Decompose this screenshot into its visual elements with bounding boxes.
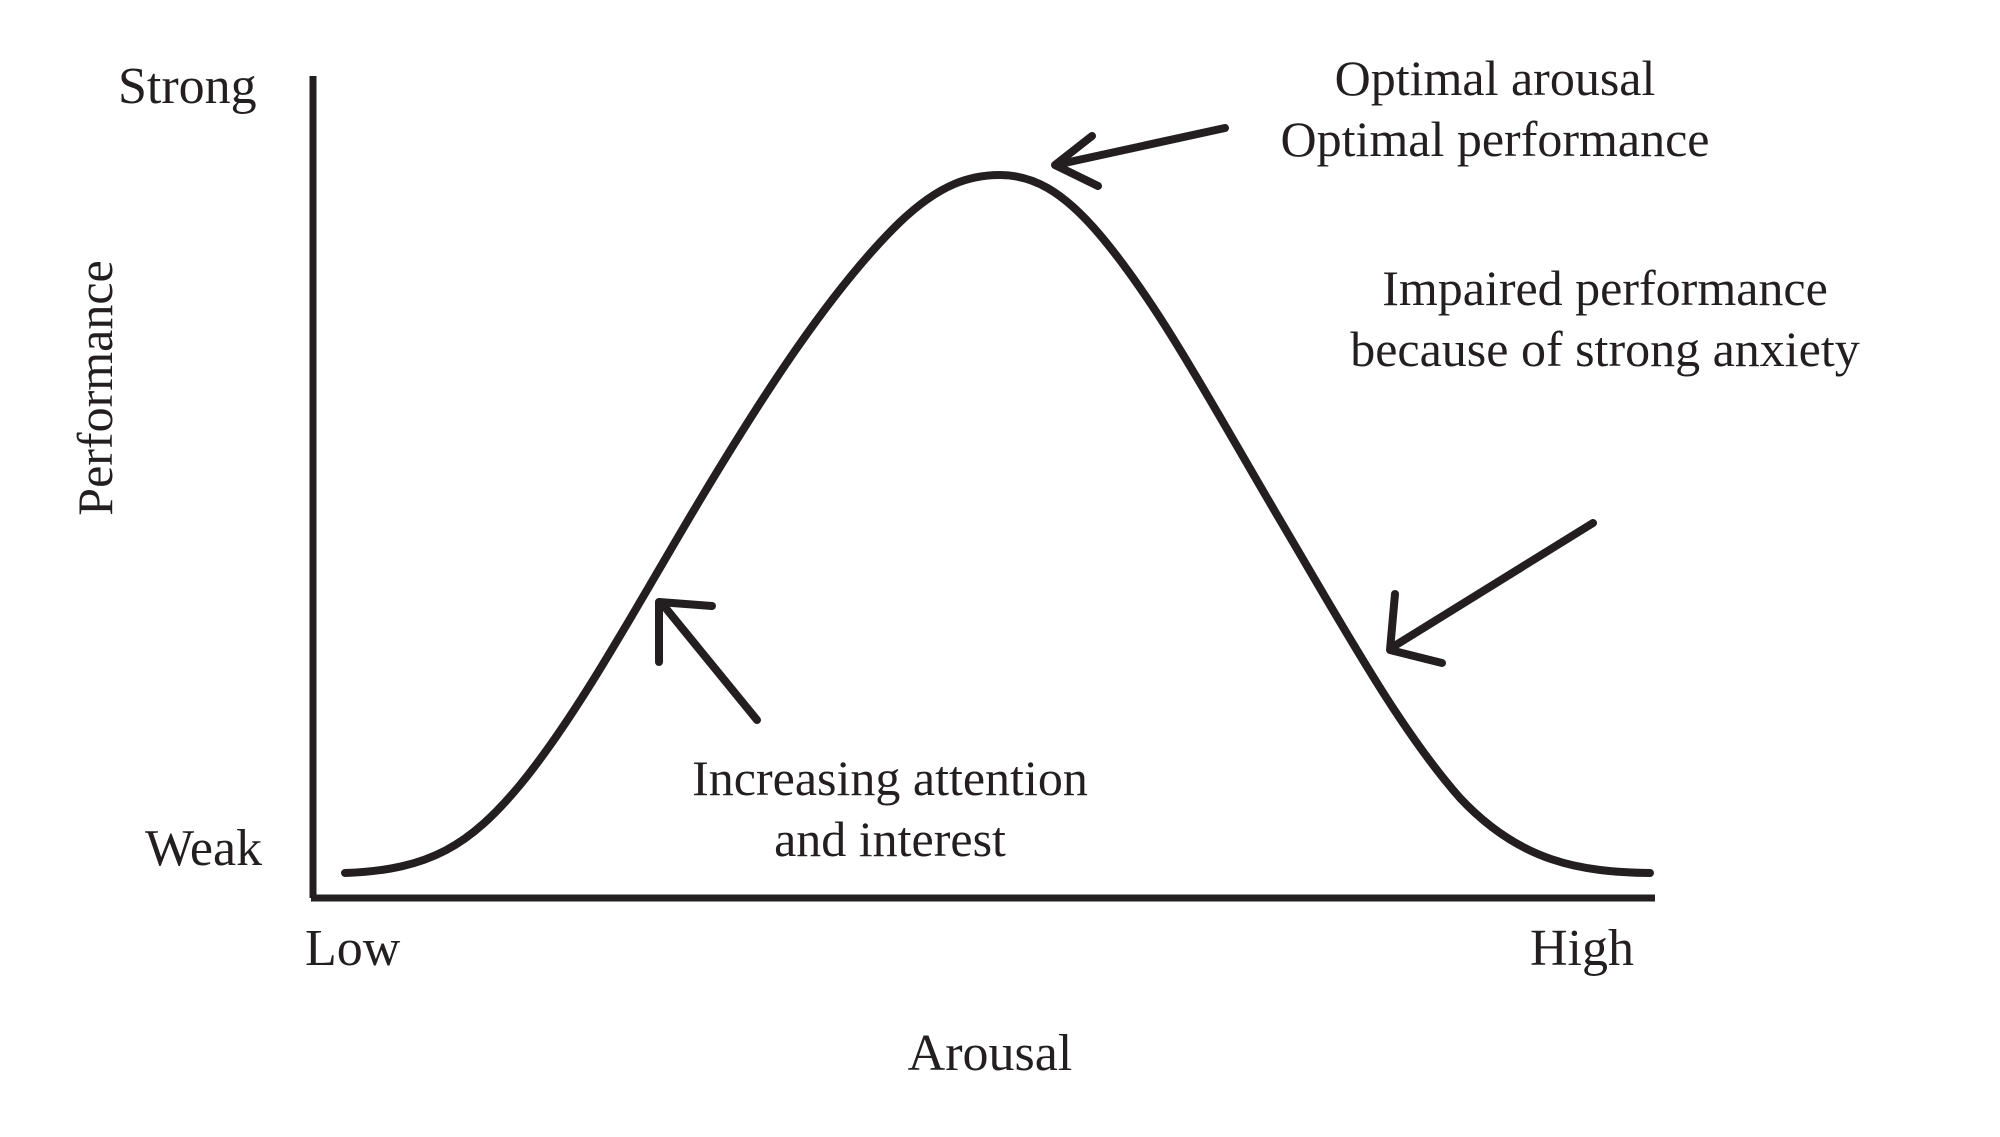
- x-axis-tick-high: High: [1530, 920, 1634, 978]
- y-axis-tick-weak: Weak: [145, 820, 262, 878]
- annotation-increasing-attention: Increasing attention and interest: [600, 748, 1180, 870]
- annotation-impaired-line-1: Impaired performance: [1255, 258, 1955, 319]
- annotation-optimal-line-1: Optimal arousal: [1175, 48, 1815, 109]
- x-axis-tick-low: Low: [305, 920, 400, 978]
- arousal-performance-figure: Strong Weak Performance Low High Arousal…: [0, 0, 2000, 1137]
- annotation-optimal-arousal: Optimal arousal Optimal performance: [1175, 48, 1815, 170]
- y-axis-tick-strong: Strong: [118, 58, 257, 116]
- plot-canvas: [0, 0, 2000, 1137]
- annotation-impaired-line-2: because of strong anxiety: [1255, 319, 1955, 380]
- annotation-impaired-performance: Impaired performance because of strong a…: [1255, 258, 1955, 380]
- annotation-optimal-line-2: Optimal performance: [1175, 109, 1815, 170]
- annotation-increasing-line-1: Increasing attention: [600, 748, 1180, 809]
- arrow-impaired: [1390, 523, 1593, 663]
- arrow-increasing: [659, 602, 757, 720]
- y-axis-title: Performance: [67, 228, 123, 548]
- annotation-increasing-line-2: and interest: [600, 809, 1180, 870]
- x-axis-title: Arousal: [790, 1025, 1190, 1083]
